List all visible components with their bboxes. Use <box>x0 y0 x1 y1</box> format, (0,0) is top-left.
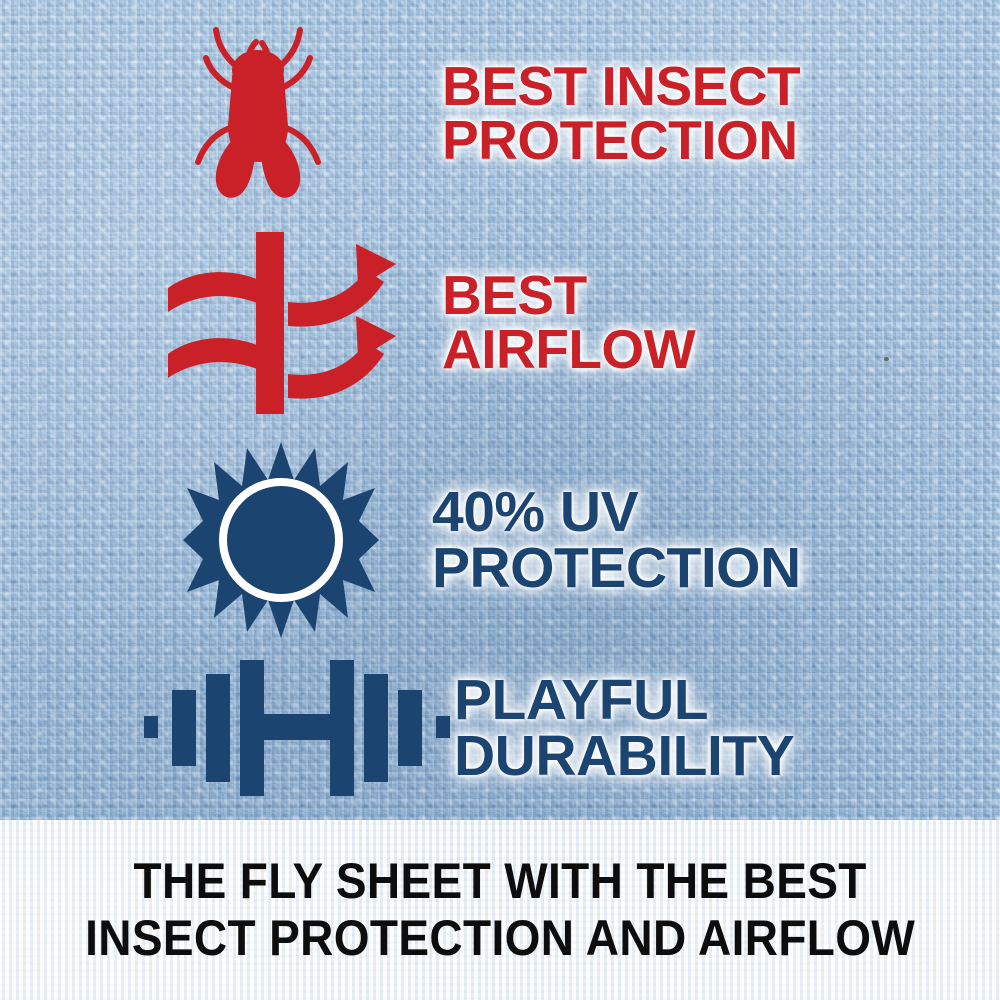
caption-band: THE FLY SHEET WITH THE BEST INSECT PROTE… <box>0 820 1000 1000</box>
sun-icon-cell <box>162 440 400 640</box>
sun-burst-icon <box>162 440 400 640</box>
feature-row-uv-protection: 40% UV PROTECTION <box>162 440 882 640</box>
airflow-icon-cell <box>152 222 428 422</box>
feature-text-cell-insect: BEST INSECT PROTECTION <box>442 41 800 186</box>
feature-row-airflow: BEST AIRFLOW <box>152 222 872 422</box>
feature-text-cell-airflow: BEST AIRFLOW <box>442 250 695 395</box>
fly-icon <box>172 22 342 204</box>
feature-label-insect-protection: BEST INSECT PROTECTION <box>442 59 800 168</box>
dumbbell-icon-cell <box>140 648 454 808</box>
feature-label-durability: PLAYFUL DURABILITY <box>454 672 794 785</box>
feature-text-cell-durability: PLAYFUL DURABILITY <box>454 654 794 803</box>
product-feature-infographic: BEST INSECT PROTECTION <box>0 0 1000 1000</box>
dumbbell-icon <box>140 648 454 808</box>
caption-headline: THE FLY SHEET WITH THE BEST INSECT PROTE… <box>85 853 915 967</box>
airflow-through-barrier-icon <box>152 222 428 422</box>
fly-icon-cell <box>172 22 342 204</box>
feature-row-durability: PLAYFUL DURABILITY <box>140 648 880 808</box>
feature-label-uv-protection: 40% UV PROTECTION <box>432 484 801 597</box>
feature-text-cell-uv: 40% UV PROTECTION <box>432 466 801 615</box>
feature-row-insect-protection: BEST INSECT PROTECTION <box>172 22 872 204</box>
feature-label-airflow: BEST AIRFLOW <box>442 268 695 377</box>
fabric-speck <box>884 357 889 361</box>
